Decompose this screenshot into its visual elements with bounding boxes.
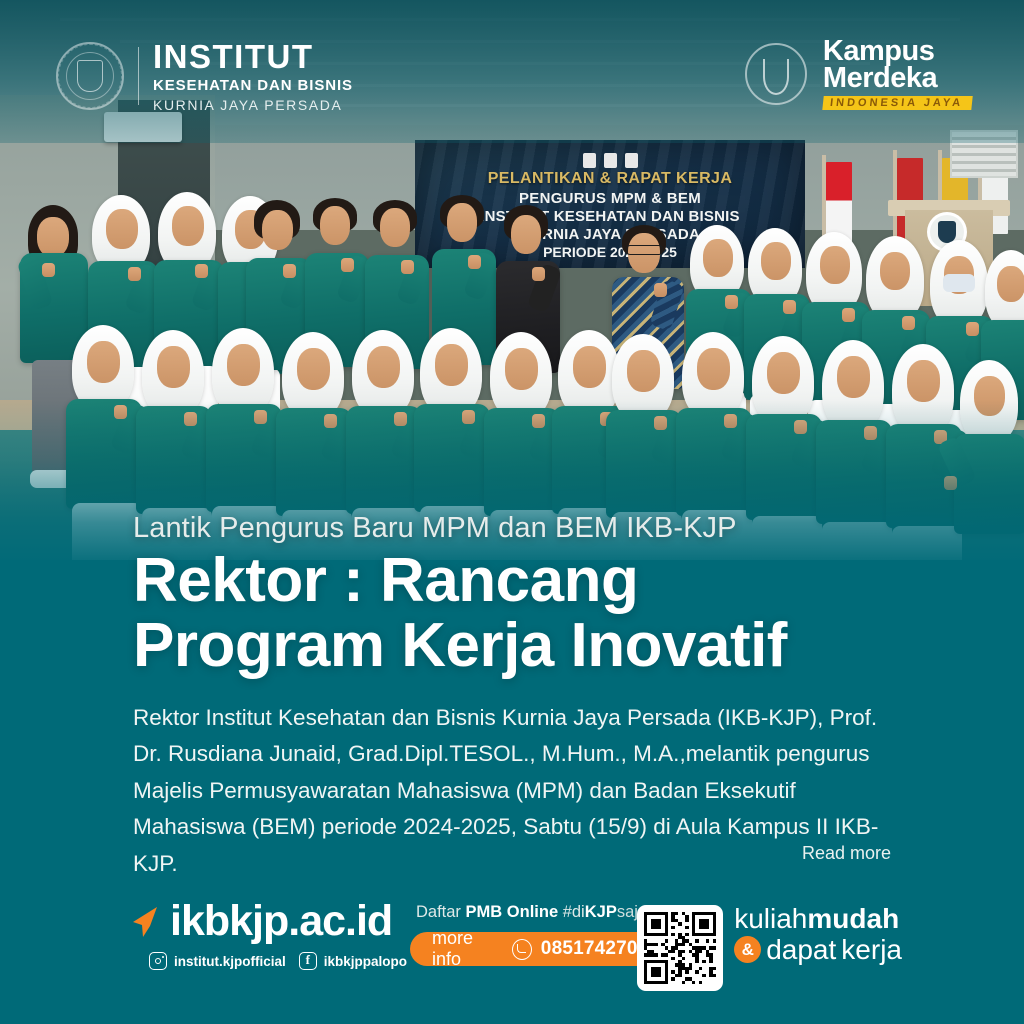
slogan-kerja: kerja — [841, 936, 902, 965]
kampus-merdeka-line1: Kampus — [823, 38, 972, 65]
slogan-mudah: mudah — [807, 903, 899, 934]
institute-branding: INSTITUT KESEHATAN DAN BISNIS KURNIA JAY… — [56, 40, 353, 112]
slogan-ampersand: & — [734, 936, 761, 963]
headline-line-1: Rektor : Rancang — [133, 546, 638, 615]
institute-subtitle: KESEHATAN DAN BISNIS — [153, 78, 353, 93]
institute-foundation: KURNIA JAYA PERSADA — [153, 98, 353, 112]
social-instagram[interactable]: institut.kjpofficial — [149, 952, 286, 970]
institute-name: INSTITUT — [153, 40, 353, 73]
slogan-kuliah: kuliah — [734, 903, 807, 934]
more-info-button[interactable]: more info 085174270172 — [410, 932, 670, 966]
tut-wuri-handayani-icon — [745, 43, 807, 105]
headline-line-2: Program Kerja Inovatif — [133, 613, 963, 678]
social-facebook[interactable]: f ikbkjppalopo — [299, 952, 407, 970]
article-headline: Rektor : Rancang Program Kerja Inovatif — [133, 548, 963, 678]
website-url[interactable]: ikbkjp.ac.id — [170, 897, 392, 946]
footer-bar: ikbkjp.ac.id institut.kjpofficial f ikbk… — [0, 889, 1024, 1024]
kampus-merdeka-line2: Merdeka — [823, 65, 972, 92]
pmb-prefix: Daftar — [416, 903, 466, 921]
instagram-handle: institut.kjpofficial — [174, 954, 286, 969]
header-divider — [138, 47, 139, 105]
kampus-merdeka-branding: Kampus Merdeka INDONESIA JAYA — [745, 38, 972, 110]
cursor-arrow-icon — [130, 905, 160, 939]
whatsapp-icon — [512, 939, 532, 960]
poster-root: PELANTIKAN & RAPAT KERJA PENGURUS MPM & … — [0, 0, 1024, 1024]
read-more-label: Read more — [802, 843, 891, 864]
read-more-button[interactable]: Read more — [802, 843, 900, 864]
more-info-label: more info — [432, 928, 503, 970]
facebook-handle: ikbkjppalopo — [324, 954, 407, 969]
article-kicker: Lantik Pengurus Baru MPM dan BEM IKB-KJP — [133, 512, 737, 545]
kampus-merdeka-tagline: INDONESIA JAYA — [822, 96, 973, 110]
article-body: Rektor Institut Kesehatan dan Bisnis Kur… — [133, 700, 903, 882]
pmb-bold: PMB Online — [466, 903, 559, 921]
facebook-icon: f — [299, 952, 317, 970]
university-crest-icon — [56, 42, 124, 110]
banner-logo-row — [415, 152, 805, 170]
banner-title: PELANTIKAN & RAPAT KERJA — [415, 170, 805, 188]
qr-code-icon[interactable] — [637, 905, 723, 991]
pmb-kjp: KJP — [585, 903, 617, 921]
slogan-block: kuliahmudah &dapatkerja — [734, 905, 902, 964]
pmb-hash: #di — [558, 903, 585, 921]
website-block: ikbkjp.ac.id institut.kjpofficial f ikbk… — [130, 897, 407, 970]
flag-indonesia — [826, 162, 852, 242]
header-bar: INSTITUT KESEHATAN DAN BISNIS KURNIA JAY… — [0, 0, 1024, 143]
slogan-dapat: dapat — [766, 936, 836, 965]
instagram-icon — [149, 952, 167, 970]
